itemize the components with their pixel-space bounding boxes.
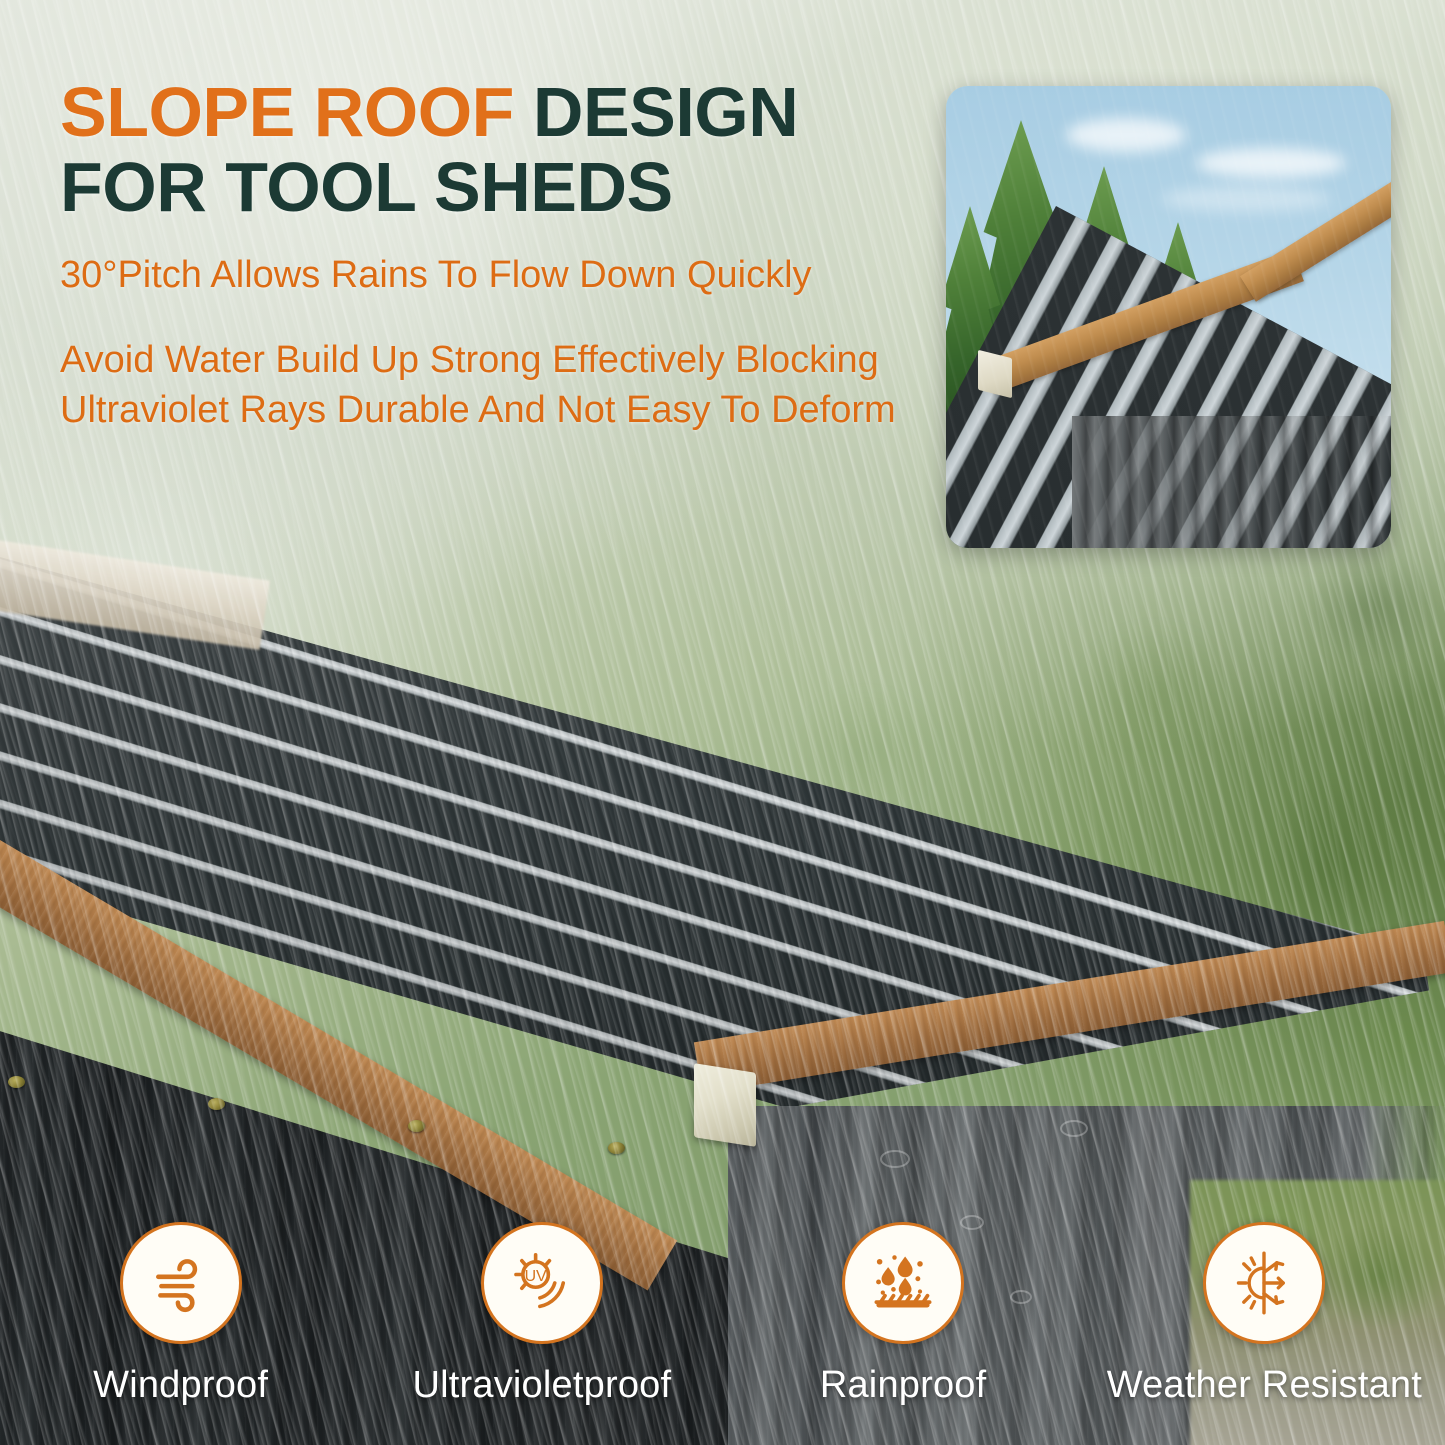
feature-windproof: Windproof xyxy=(0,1222,361,1432)
product-feature-image: SLOPE ROOF DESIGN FOR TOOL SHEDS 30°Pitc… xyxy=(0,0,1445,1445)
sun-snowflake-icon-badge xyxy=(1203,1222,1325,1344)
feature-label: Ultravioletproof xyxy=(412,1364,671,1407)
wind-icon-badge xyxy=(120,1222,242,1344)
feature-label: Windproof xyxy=(93,1364,268,1407)
wall-screw xyxy=(408,1120,425,1132)
uv-sun-icon-badge: UV xyxy=(481,1222,603,1344)
headline-orange: SLOPE ROOF xyxy=(60,73,533,151)
feature-badges-row: Windproof UV Ultravioletproof xyxy=(0,1222,1445,1432)
inset-rain-overlay xyxy=(946,86,1391,548)
page-title: SLOPE ROOF DESIGN FOR TOOL SHEDS xyxy=(60,78,920,221)
sun-snowflake-icon xyxy=(1230,1249,1298,1317)
water-droplets-surface-icon-badge xyxy=(842,1222,964,1344)
wind-icon xyxy=(148,1250,214,1316)
rain-splash xyxy=(1060,1120,1088,1137)
feature-label: Weather Resistant xyxy=(1107,1364,1422,1407)
wall-screw xyxy=(608,1142,625,1154)
uv-sun-icon: UV xyxy=(508,1249,576,1317)
wall-screw xyxy=(8,1076,25,1088)
benefits-text: Avoid Water Build Up Strong Effectively … xyxy=(60,335,920,435)
corner-bracket xyxy=(694,1063,756,1147)
subheadline: 30°Pitch Allows Rains To Flow Down Quick… xyxy=(60,251,920,300)
inset-photo-roof-detail xyxy=(946,86,1391,548)
uv-icon-text: UV xyxy=(524,1268,546,1285)
headline-dark-1: DESIGN xyxy=(533,73,798,151)
water-droplets-surface-icon xyxy=(869,1249,937,1317)
wall-screw xyxy=(208,1098,225,1110)
feature-weather-resistant: Weather Resistant xyxy=(1084,1222,1445,1432)
feature-label: Rainproof xyxy=(820,1364,987,1407)
headline-dark-2: FOR TOOL SHEDS xyxy=(60,153,920,222)
feature-ultravioletproof: UV Ultravioletproof xyxy=(361,1222,722,1432)
rain-splash xyxy=(880,1150,910,1168)
marketing-copy-block: SLOPE ROOF DESIGN FOR TOOL SHEDS 30°Pitc… xyxy=(60,78,920,435)
feature-rainproof: Rainproof xyxy=(723,1222,1084,1432)
